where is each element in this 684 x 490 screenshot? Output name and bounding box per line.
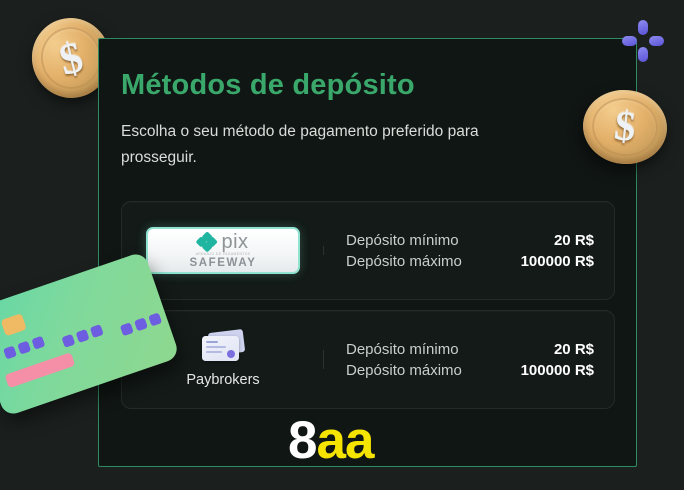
pix-logo: pix xyxy=(197,232,248,252)
pix-provider-name: SAFEWAY xyxy=(189,257,256,269)
pix-tagline: ARRANJO DE PAGAMENTOS xyxy=(196,252,251,256)
page-subtitle: Escolha o seu método de pagamento prefer… xyxy=(121,119,511,171)
deposit-methods-screen: $ Métodos de depósito Escolha o seu méto… xyxy=(0,0,684,490)
pix-diamond-icon xyxy=(197,233,216,252)
brand-cell-paybrokers[interactable]: Paybrokers xyxy=(122,331,324,388)
card-chip-icon xyxy=(1,313,27,336)
watermark-second: aa xyxy=(316,411,373,470)
payment-methods-list: pix ARRANJO DE PAGAMENTOS SAFEWAY Depósi… xyxy=(121,201,615,409)
limit-value: 100000 R$ xyxy=(521,253,594,270)
limit-row: Depósito máximo 100000 R$ xyxy=(346,251,594,272)
payment-method-paybrokers[interactable]: Paybrokers Depósito mínimo 20 R$ Depósit… xyxy=(121,310,615,409)
watermark-first: 8 xyxy=(288,411,316,470)
page-title: Métodos de depósito xyxy=(121,69,415,102)
paybrokers-label: Paybrokers xyxy=(186,372,259,388)
limit-label: Depósito máximo xyxy=(346,362,462,379)
limit-value: 100000 R$ xyxy=(521,362,594,379)
brand-cell-pix[interactable]: pix ARRANJO DE PAGAMENTOS SAFEWAY xyxy=(122,227,324,274)
limit-label: Depósito máximo xyxy=(346,253,462,270)
limit-row: Depósito mínimo 20 R$ xyxy=(346,339,594,360)
payment-method-pix-safeway[interactable]: pix ARRANJO DE PAGAMENTOS SAFEWAY Depósi… xyxy=(121,201,615,300)
limits-paybrokers: Depósito mínimo 20 R$ Depósito máximo 10… xyxy=(324,339,614,381)
dollar-sign-icon: $ xyxy=(54,31,88,86)
card-stripe xyxy=(5,352,76,388)
limit-row: Depósito máximo 100000 R$ xyxy=(346,360,594,381)
brand-watermark: 8aa xyxy=(288,414,373,467)
pix-logo-button[interactable]: pix ARRANJO DE PAGAMENTOS SAFEWAY xyxy=(146,227,300,274)
limit-row: Depósito mínimo 20 R$ xyxy=(346,230,594,251)
limit-value: 20 R$ xyxy=(554,232,594,249)
limits-pix: Depósito mínimo 20 R$ Depósito máximo 10… xyxy=(324,230,614,272)
deposit-methods-panel: Métodos de depósito Escolha o seu método… xyxy=(98,38,637,467)
limit-label: Depósito mínimo xyxy=(346,341,459,358)
pix-wordmark: pix xyxy=(221,232,248,252)
credit-card-icon xyxy=(200,331,246,365)
limit-label: Depósito mínimo xyxy=(346,232,459,249)
limit-value: 20 R$ xyxy=(554,341,594,358)
